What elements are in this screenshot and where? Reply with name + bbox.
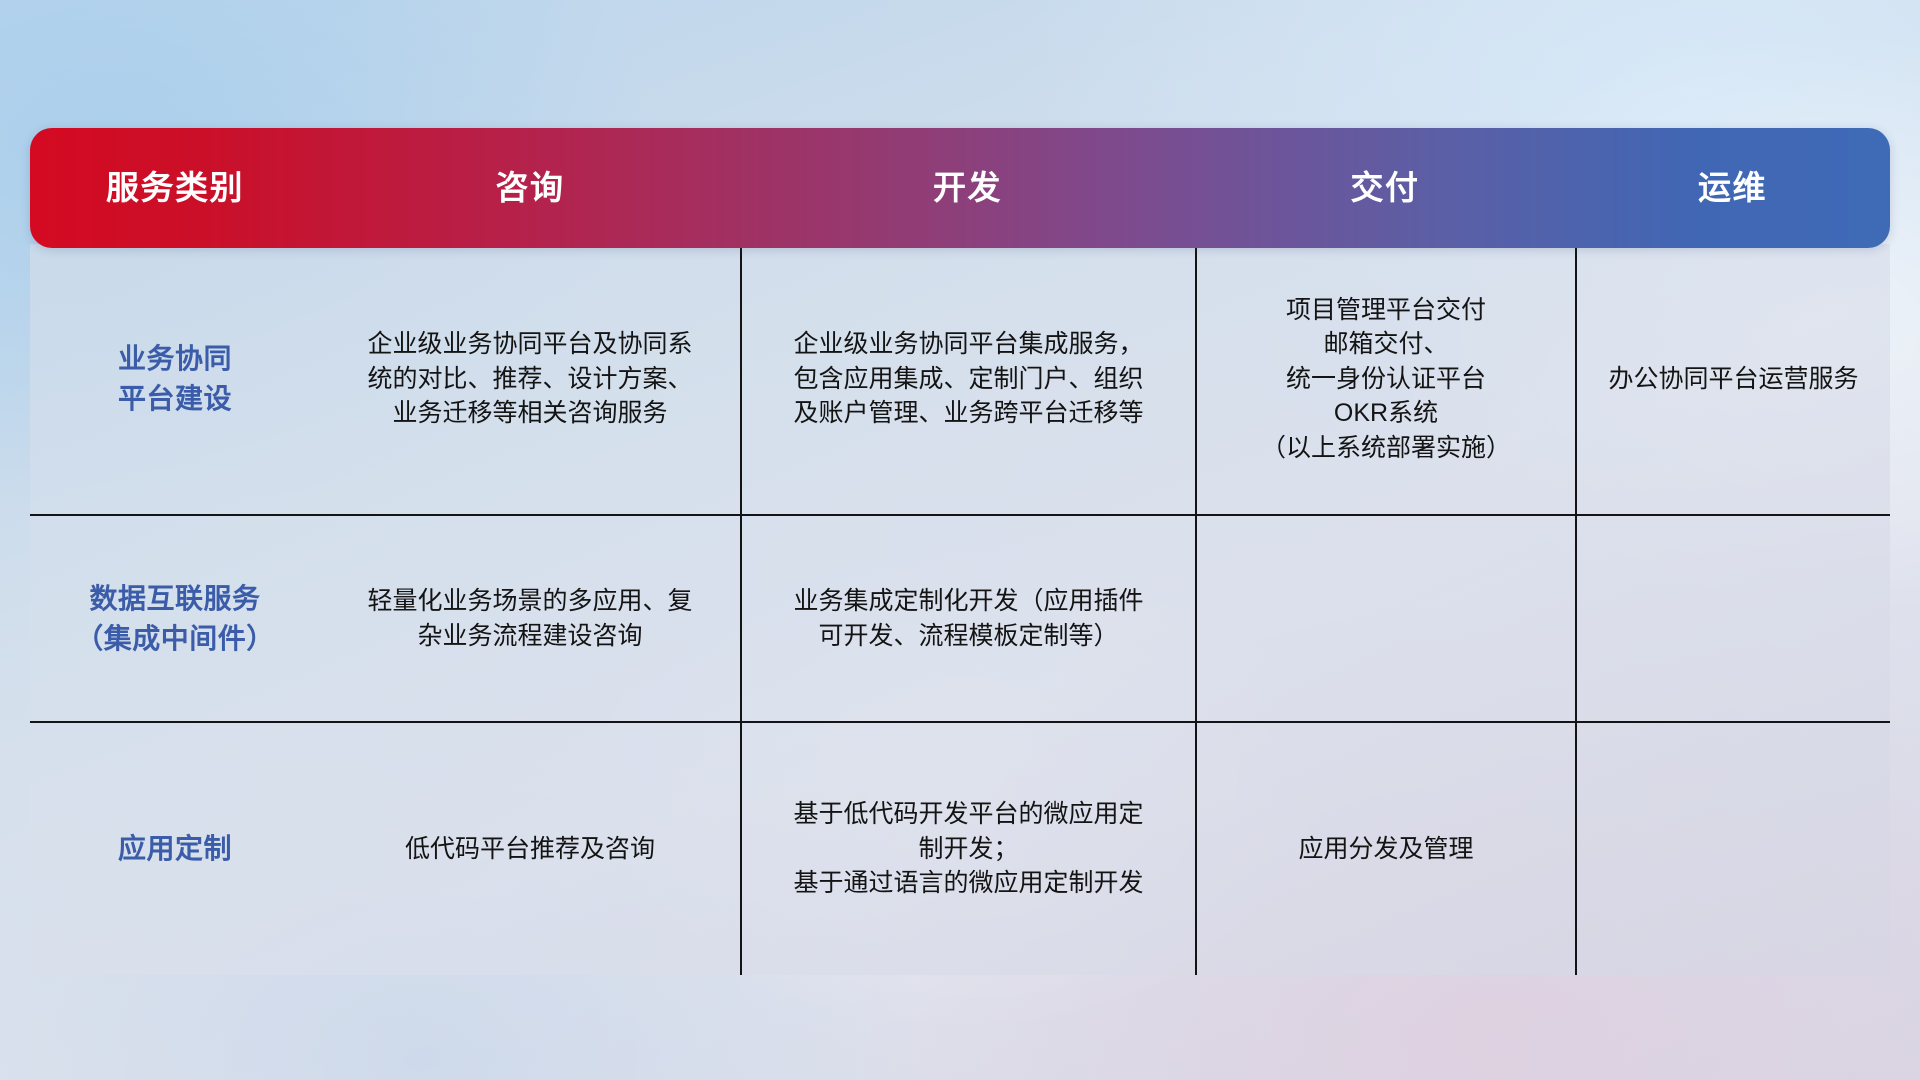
table-row: 业务协同 平台建设 企业级业务协同平台及协同系 统的对比、推荐、设计方案、 业务…: [30, 244, 1890, 514]
cell-collaboration-platform-operations: 办公协同平台运营服务: [1575, 244, 1890, 514]
row-label-application-customization: 应用定制: [30, 723, 320, 975]
cell-application-customization-consulting: 低代码平台推荐及咨询: [320, 723, 740, 975]
table-header-consulting[interactable]: 咨询: [320, 170, 740, 206]
cell-application-customization-delivery: 应用分发及管理: [1195, 723, 1575, 975]
cell-data-interconnect-service-development: 业务集成定制化开发（应用插件 可开发、流程模板定制等）: [740, 516, 1195, 721]
cell-collaboration-platform-development: 企业级业务协同平台集成服务， 包含应用集成、定制门户、组织 及账户管理、业务跨平…: [740, 244, 1195, 514]
table-body: 业务协同 平台建设 企业级业务协同平台及协同系 统的对比、推荐、设计方案、 业务…: [30, 244, 1890, 975]
table-header-row: 服务类别 咨询 开发 交付 运维: [30, 128, 1890, 248]
table-row: 应用定制 低代码平台推荐及咨询 基于低代码开发平台的微应用定 制开发； 基于通过…: [30, 721, 1890, 975]
table-header-service-category[interactable]: 服务类别: [30, 170, 320, 206]
service-matrix-table: 服务类别 咨询 开发 交付 运维 业务协同 平台建设 企业级业务协同平台及协同系…: [30, 128, 1890, 975]
row-label-data-interconnect-service: 数据互联服务 （集成中间件）: [30, 516, 320, 721]
cell-collaboration-platform-delivery: 项目管理平台交付 邮箱交付、 统一身份认证平台 OKR系统 （以上系统部署实施）: [1195, 244, 1575, 514]
cell-data-interconnect-service-consulting: 轻量化业务场景的多应用、复 杂业务流程建设咨询: [320, 516, 740, 721]
table-header-delivery[interactable]: 交付: [1195, 170, 1575, 206]
table-header-operations[interactable]: 运维: [1575, 170, 1890, 206]
row-label-collaboration-platform: 业务协同 平台建设: [30, 244, 320, 514]
cell-application-customization-development: 基于低代码开发平台的微应用定 制开发； 基于通过语言的微应用定制开发: [740, 723, 1195, 975]
cell-application-customization-operations: [1575, 723, 1890, 975]
table-row: 数据互联服务 （集成中间件） 轻量化业务场景的多应用、复 杂业务流程建设咨询 业…: [30, 514, 1890, 721]
cell-collaboration-platform-consulting: 企业级业务协同平台及协同系 统的对比、推荐、设计方案、 业务迁移等相关咨询服务: [320, 244, 740, 514]
cell-data-interconnect-service-delivery: [1195, 516, 1575, 721]
table-header-development[interactable]: 开发: [740, 170, 1195, 206]
cell-data-interconnect-service-operations: [1575, 516, 1890, 721]
